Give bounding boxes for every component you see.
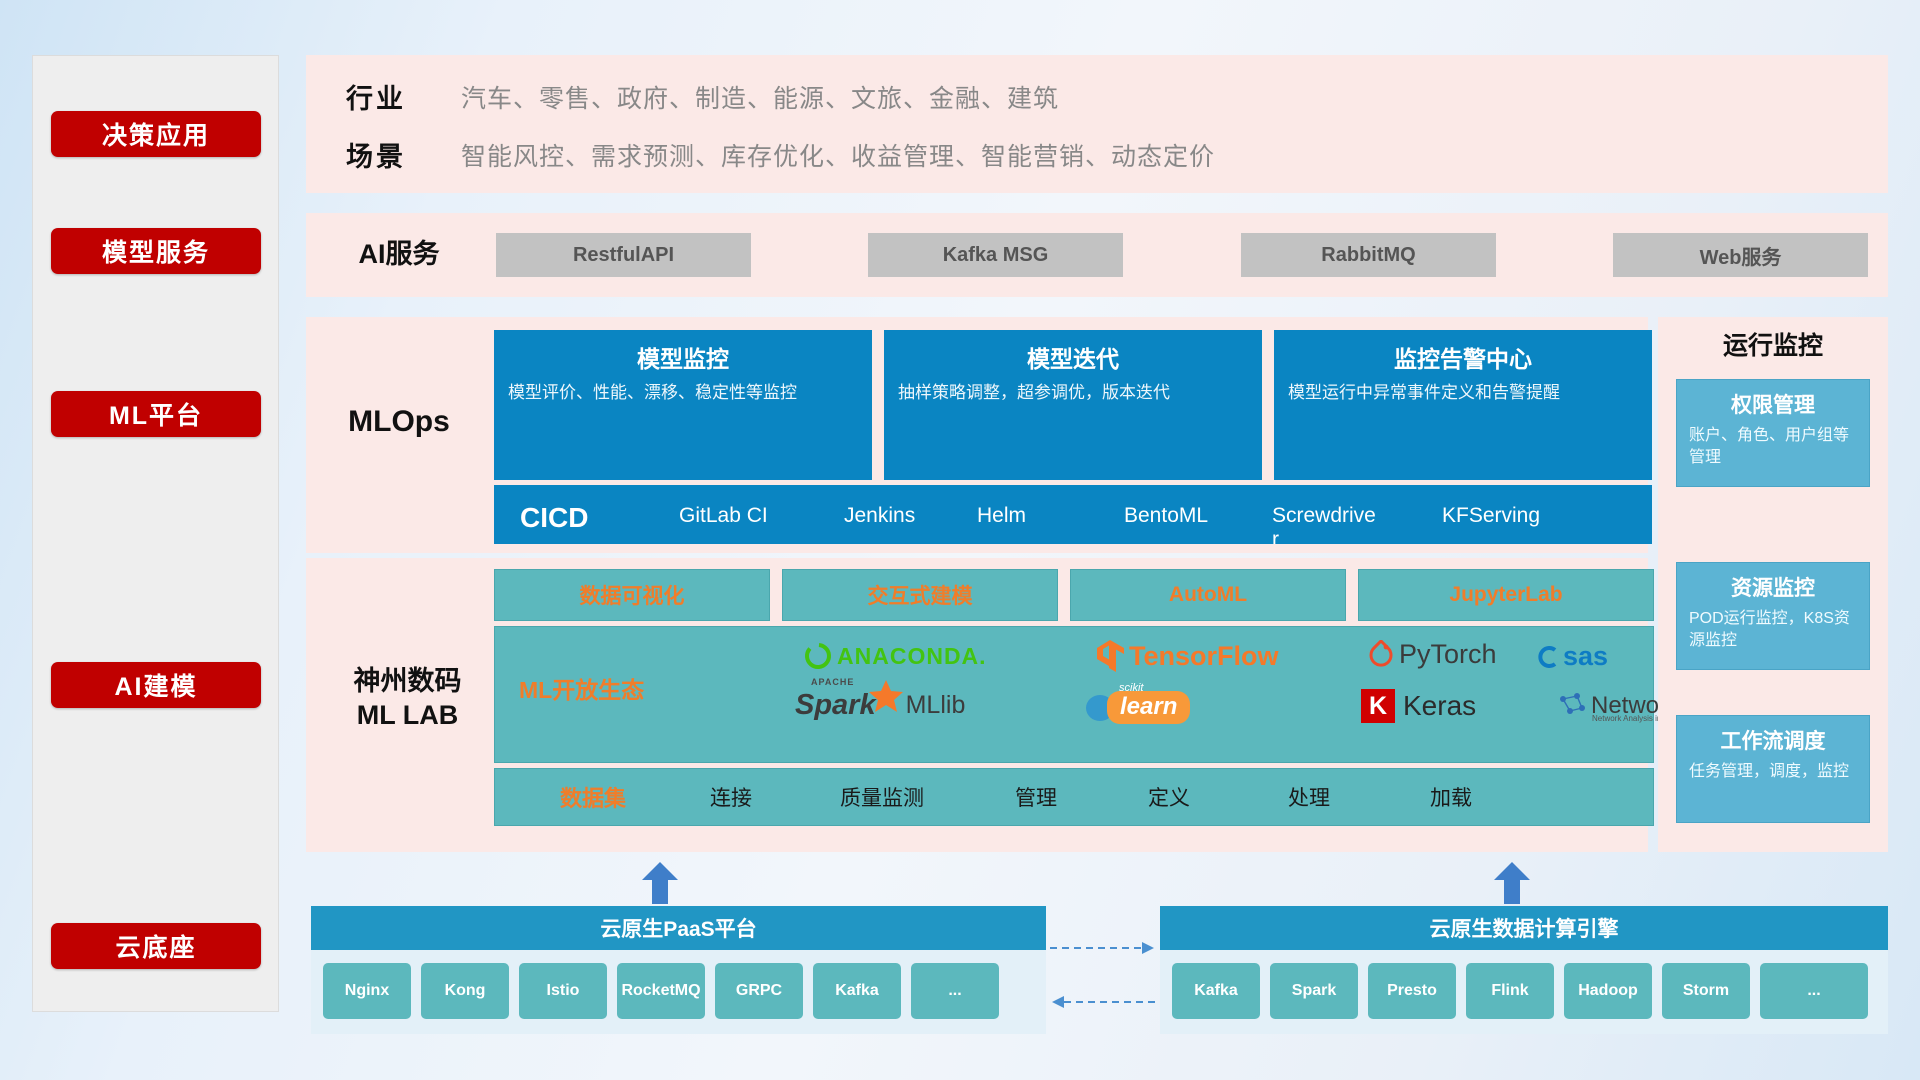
anaconda-logo: ANACONDA. bbox=[803, 641, 987, 671]
arrow-up-data-engine bbox=[1492, 862, 1532, 909]
cicd-bar: CICD GitLab CI Jenkins Helm BentoML Scre… bbox=[494, 485, 1652, 544]
tensorflow-logo-text: TensorFlow bbox=[1129, 641, 1279, 672]
dashed-arrow-left bbox=[1050, 994, 1156, 1015]
card-title: 模型监控 bbox=[508, 340, 858, 374]
dataset-item-management[interactable]: 管理 bbox=[1015, 782, 1057, 812]
scikit-logo-top-text: scikit bbox=[1119, 682, 1143, 694]
ml-lab-label-line1: 神州数码 bbox=[354, 665, 462, 699]
paas-chip-kong[interactable]: Kong bbox=[421, 963, 509, 1019]
mlops-band: MLOps 模型监控 模型评价、性能、漂移、稳定性等监控 模型迭代 抽样策略调整… bbox=[306, 317, 1648, 553]
engine-chip-flink[interactable]: Flink bbox=[1466, 963, 1554, 1019]
card-desc: 账户、角色、用户组等管理 bbox=[1689, 425, 1857, 468]
cloud-paas-header: 云原生PaaS平台 bbox=[311, 906, 1046, 950]
keras-logo-text: Keras bbox=[1403, 690, 1476, 722]
arrow-up-paas bbox=[640, 862, 680, 909]
dataset-label: 数据集 bbox=[560, 781, 626, 813]
tab-interactive-modeling[interactable]: 交互式建模 bbox=[782, 569, 1058, 621]
cloud-data-engine-header: 云原生数据计算引擎 bbox=[1160, 906, 1888, 950]
mlops-label: MLOps bbox=[324, 397, 474, 447]
ai-service-restfulapi[interactable]: RestfulAPI bbox=[496, 233, 751, 277]
mlops-card-model-iteration[interactable]: 模型迭代 抽样策略调整，超参调优，版本迭代 bbox=[884, 330, 1262, 480]
paas-chip-kafka[interactable]: Kafka bbox=[813, 963, 901, 1019]
monitor-card-workflow[interactable]: 工作流调度 任务管理，调度，监控 bbox=[1676, 715, 1870, 823]
scenario-label: 场景 bbox=[346, 135, 461, 174]
cloud-paas-tray: Nginx Kong Istio RocketMQ GRPC Kafka ... bbox=[311, 950, 1046, 1034]
cicd-item-kfserving[interactable]: KFServing bbox=[1442, 504, 1550, 528]
decision-application-band: 行业 汽车、零售、政府、制造、能源、文旅、金融、建筑 场景 智能风控、需求预测、… bbox=[306, 55, 1888, 193]
paas-chip-istio[interactable]: Istio bbox=[519, 963, 607, 1019]
ai-service-band: AI服务 RestfulAPI Kafka MSG RabbitMQ Web服务 bbox=[306, 213, 1888, 297]
ml-lab-label: 神州数码 ML LAB bbox=[320, 663, 495, 735]
rail-item-cloud-base[interactable]: 云底座 bbox=[51, 923, 261, 969]
ai-service-rabbitmq[interactable]: RabbitMQ bbox=[1241, 233, 1496, 277]
engine-chip-spark[interactable]: Spark bbox=[1270, 963, 1358, 1019]
card-desc: 任务管理，调度，监控 bbox=[1689, 761, 1857, 783]
dataset-item-connect[interactable]: 连接 bbox=[710, 782, 752, 812]
paas-chip-more[interactable]: ... bbox=[911, 963, 999, 1019]
pytorch-logo: PyTorch bbox=[1367, 639, 1497, 670]
sas-logo-text: sas bbox=[1563, 641, 1608, 672]
cicd-item-helm[interactable]: Helm bbox=[977, 504, 1085, 528]
tab-automl[interactable]: AutoML bbox=[1070, 569, 1346, 621]
industry-label: 行业 bbox=[346, 77, 461, 116]
dataset-item-loading[interactable]: 加载 bbox=[1430, 782, 1472, 812]
paas-chip-nginx[interactable]: Nginx bbox=[323, 963, 411, 1019]
cicd-item-gitlab-ci[interactable]: GitLab CI bbox=[679, 504, 787, 528]
engine-chip-storm[interactable]: Storm bbox=[1662, 963, 1750, 1019]
spark-apache-text: APACHE bbox=[811, 677, 854, 687]
rail-item-ml-platform[interactable]: ML平台 bbox=[51, 391, 261, 437]
card-desc: POD运行监控，K8S资源监控 bbox=[1689, 608, 1857, 651]
card-desc: 模型运行中异常事件定义和告警提醒 bbox=[1288, 382, 1638, 405]
scikit-learn-logo: scikit learn bbox=[1085, 691, 1190, 724]
card-title: 模型迭代 bbox=[898, 340, 1248, 374]
ml-lab-label-line2: ML LAB bbox=[357, 699, 459, 733]
tensorflow-logo: TensorFlow bbox=[1095, 639, 1279, 673]
spark-logo-text: Spark bbox=[795, 689, 876, 721]
engine-chip-more[interactable]: ... bbox=[1760, 963, 1868, 1019]
cicd-label: CICD bbox=[520, 502, 588, 534]
rail-item-model-service[interactable]: 模型服务 bbox=[51, 228, 261, 274]
mllib-logo-text: MLlib bbox=[906, 691, 966, 720]
engine-chip-hadoop[interactable]: Hadoop bbox=[1564, 963, 1652, 1019]
keras-logo-mark: K bbox=[1361, 689, 1395, 723]
cloud-data-engine-tray: Kafka Spark Presto Flink Hadoop Storm ..… bbox=[1160, 950, 1888, 1034]
mlops-card-model-monitor[interactable]: 模型监控 模型评价、性能、漂移、稳定性等监控 bbox=[494, 330, 872, 480]
tab-data-visualization[interactable]: 数据可视化 bbox=[494, 569, 770, 621]
cicd-item-jenkins[interactable]: Jenkins bbox=[844, 504, 952, 528]
card-desc: 模型评价、性能、漂移、稳定性等监控 bbox=[508, 382, 858, 405]
spark-mllib-logo: APACHE Spark MLlib bbox=[795, 689, 965, 722]
run-monitor-column: 运行监控 权限管理 账户、角色、用户组等管理 资源监控 POD运行监控，K8S资… bbox=[1658, 317, 1888, 852]
diagram-canvas: 决策应用 模型服务 ML平台 AI建模 云底座 行业 汽车、零售、政府、制造、能… bbox=[0, 0, 1920, 1080]
card-desc: 抽样策略调整，超参调优，版本迭代 bbox=[898, 382, 1248, 405]
card-title: 工作流调度 bbox=[1689, 725, 1857, 755]
dataset-item-definition[interactable]: 定义 bbox=[1148, 782, 1190, 812]
pytorch-logo-text: PyTorch bbox=[1399, 639, 1497, 670]
mlops-card-alert-center[interactable]: 监控告警中心 模型运行中异常事件定义和告警提醒 bbox=[1274, 330, 1652, 480]
anaconda-logo-text: ANACONDA. bbox=[837, 643, 987, 670]
ml-open-ecosystem-label: ML开放生态 bbox=[519, 671, 644, 705]
card-title: 权限管理 bbox=[1689, 389, 1857, 419]
dashed-arrow-right bbox=[1050, 940, 1156, 961]
ml-lab-band: 神州数码 ML LAB 数据可视化 交互式建模 AutoML JupyterLa… bbox=[306, 558, 1648, 852]
engine-chip-kafka[interactable]: Kafka bbox=[1172, 963, 1260, 1019]
dataset-row: 数据集 连接 质量监测 管理 定义 处理 加载 bbox=[494, 768, 1654, 826]
tab-jupyterlab[interactable]: JupyterLab bbox=[1358, 569, 1654, 621]
rail-item-decision-app[interactable]: 决策应用 bbox=[51, 111, 261, 157]
monitor-card-permission[interactable]: 权限管理 账户、角色、用户组等管理 bbox=[1676, 379, 1870, 487]
engine-chip-presto[interactable]: Presto bbox=[1368, 963, 1456, 1019]
left-rail: 决策应用 模型服务 ML平台 AI建模 云底座 bbox=[32, 55, 279, 1012]
card-title: 监控告警中心 bbox=[1288, 340, 1638, 374]
scenario-value: 智能风控、需求预测、库存优化、收益管理、智能营销、动态定价 bbox=[461, 137, 1215, 173]
dataset-item-quality[interactable]: 质量监测 bbox=[840, 782, 924, 812]
ai-service-label: AI服务 bbox=[334, 231, 464, 279]
ml-open-ecosystem: ML开放生态 ANACONDA. TensorFlow PyTorch sas bbox=[494, 626, 1654, 763]
scikit-learn-logo-text: learn bbox=[1120, 693, 1177, 720]
ai-service-kafka-msg[interactable]: Kafka MSG bbox=[868, 233, 1123, 277]
sas-logo: sas bbox=[1535, 641, 1608, 672]
paas-chip-grpc[interactable]: GRPC bbox=[715, 963, 803, 1019]
card-title: 资源监控 bbox=[1689, 572, 1857, 602]
run-monitor-title: 运行监控 bbox=[1658, 329, 1888, 365]
industry-value: 汽车、零售、政府、制造、能源、文旅、金融、建筑 bbox=[461, 79, 1059, 115]
keras-logo: K Keras bbox=[1361, 689, 1476, 723]
cicd-item-bentoml[interactable]: BentoML bbox=[1124, 504, 1232, 528]
dataset-item-processing[interactable]: 处理 bbox=[1288, 782, 1330, 812]
monitor-card-resource[interactable]: 资源监控 POD运行监控，K8S资源监控 bbox=[1676, 562, 1870, 670]
rail-item-ai-modeling[interactable]: AI建模 bbox=[51, 662, 261, 708]
ai-service-web[interactable]: Web服务 bbox=[1613, 233, 1868, 277]
cicd-item-screwdriver[interactable]: Screwdriver bbox=[1272, 504, 1380, 544]
paas-chip-rocketmq[interactable]: RocketMQ bbox=[617, 963, 705, 1019]
